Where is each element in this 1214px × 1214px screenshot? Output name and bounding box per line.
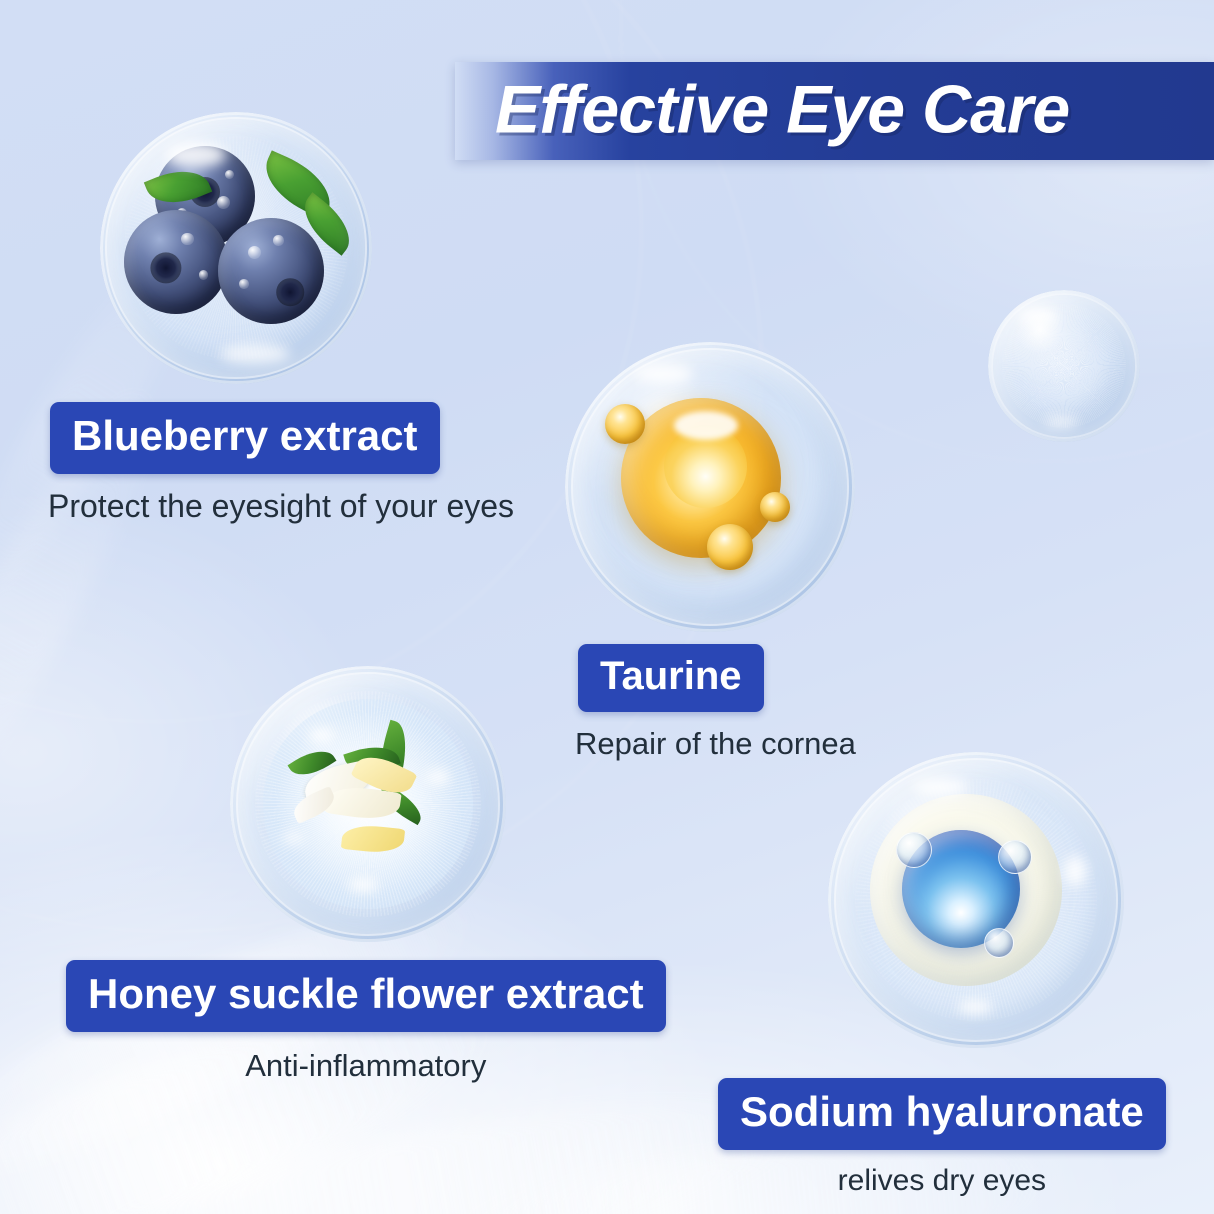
ingredient-bubble-honeysuckle [230, 666, 506, 942]
ingredient-bubble-blueberry [100, 112, 372, 384]
page-title: Effective Eye Care [495, 70, 1069, 148]
ingredient-label-honeysuckle: Honey suckle flower extract Anti-inflamm… [66, 960, 666, 1084]
ingredient-benefit-taurine: Repair of the cornea [575, 726, 856, 762]
ingredient-benefit-sodium-hyaluronate: relives dry eyes [718, 1164, 1166, 1198]
ingredient-benefit-honeysuckle: Anti-inflammatory [66, 1048, 666, 1084]
droplet-rim [834, 758, 1118, 1042]
header-banner: Effective Eye Care [455, 62, 1214, 160]
ingredient-bubble-sodium-hyaluronate [828, 752, 1124, 1048]
droplet-rim [571, 348, 849, 626]
ingredient-label-taurine: Taurine Repair of the cornea [578, 644, 856, 762]
ingredient-label-sodium-hyaluronate: Sodium hyaluronate relives dry eyes [718, 1078, 1166, 1198]
ingredient-name-taurine: Taurine [578, 644, 764, 712]
droplet-rim [991, 293, 1137, 439]
ingredient-bubble-taurine [565, 342, 855, 632]
ingredient-name-honeysuckle: Honey suckle flower extract [66, 960, 666, 1032]
ingredient-label-blueberry: Blueberry extract Protect the eyesight o… [50, 402, 514, 525]
poster: Effective Eye Care [0, 0, 1214, 1214]
droplet-rim [105, 117, 366, 378]
ingredient-benefit-blueberry: Protect the eyesight of your eyes [48, 488, 514, 525]
droplet-rim [236, 672, 501, 937]
ingredient-name-sodium-hyaluronate: Sodium hyaluronate [718, 1078, 1166, 1150]
ingredient-name-blueberry: Blueberry extract [50, 402, 440, 474]
decorative-water-droplet [988, 290, 1140, 442]
